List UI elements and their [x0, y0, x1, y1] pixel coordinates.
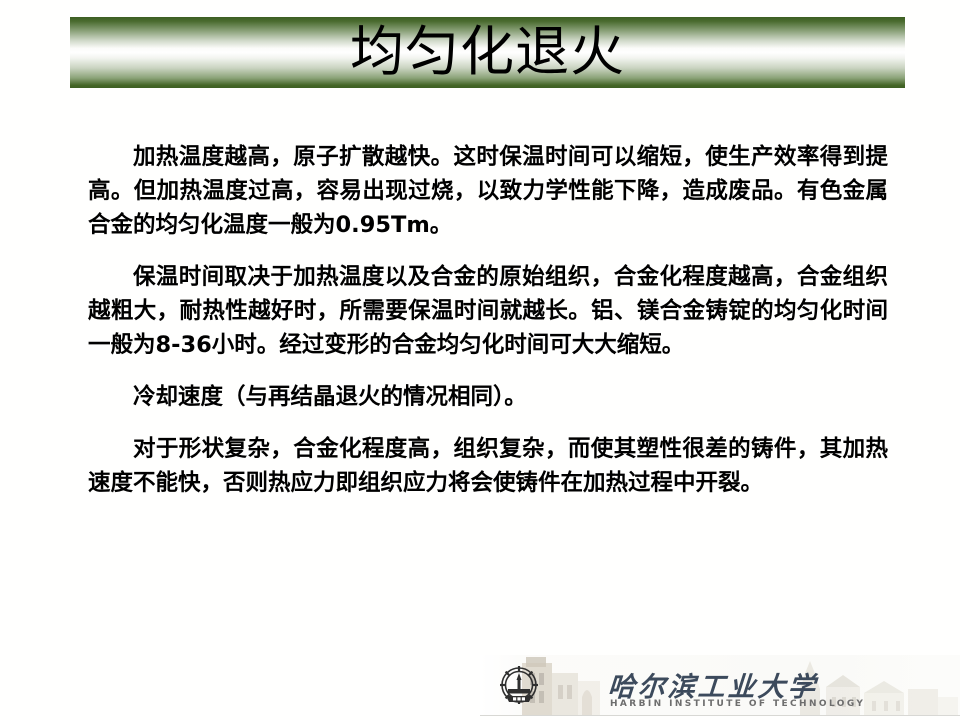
body-paragraph-3: 冷却速度（与再结晶退火的情况相同）。	[88, 380, 888, 414]
slide-canvas: 均匀化退火 加热温度越高，原子扩散越快。这时保温时间可以缩短，使生产效率得到提高…	[0, 0, 960, 720]
body-paragraph-1: 加热温度越高，原子扩散越快。这时保温时间可以缩短，使生产效率得到提高。但加热温度…	[88, 140, 888, 242]
slide-footer: 哈尔滨工业大学 HARBIN INSTITUTE OF TECHNOLOGY	[480, 655, 960, 720]
slide-title-banner: 均匀化退火	[70, 17, 905, 88]
body-paragraph-4: 对于形状复杂，合金化程度高，组织复杂，而使其塑性很差的铸件，其加热速度不能快，否…	[88, 432, 888, 500]
slide-body: 加热温度越高，原子扩散越快。这时保温时间可以缩短，使生产效率得到提高。但加热温度…	[88, 140, 888, 500]
footer-divider	[480, 715, 960, 716]
university-name-en: HARBIN INSTITUTE OF TECHNOLOGY	[610, 699, 865, 709]
body-paragraph-2: 保温时间取决于加热温度以及合金的原始组织，合金化程度越高，合金组织越粗大，耐热性…	[88, 260, 888, 362]
page-title: 均匀化退火	[350, 25, 625, 79]
hit-gear-emblem-icon	[495, 663, 543, 711]
